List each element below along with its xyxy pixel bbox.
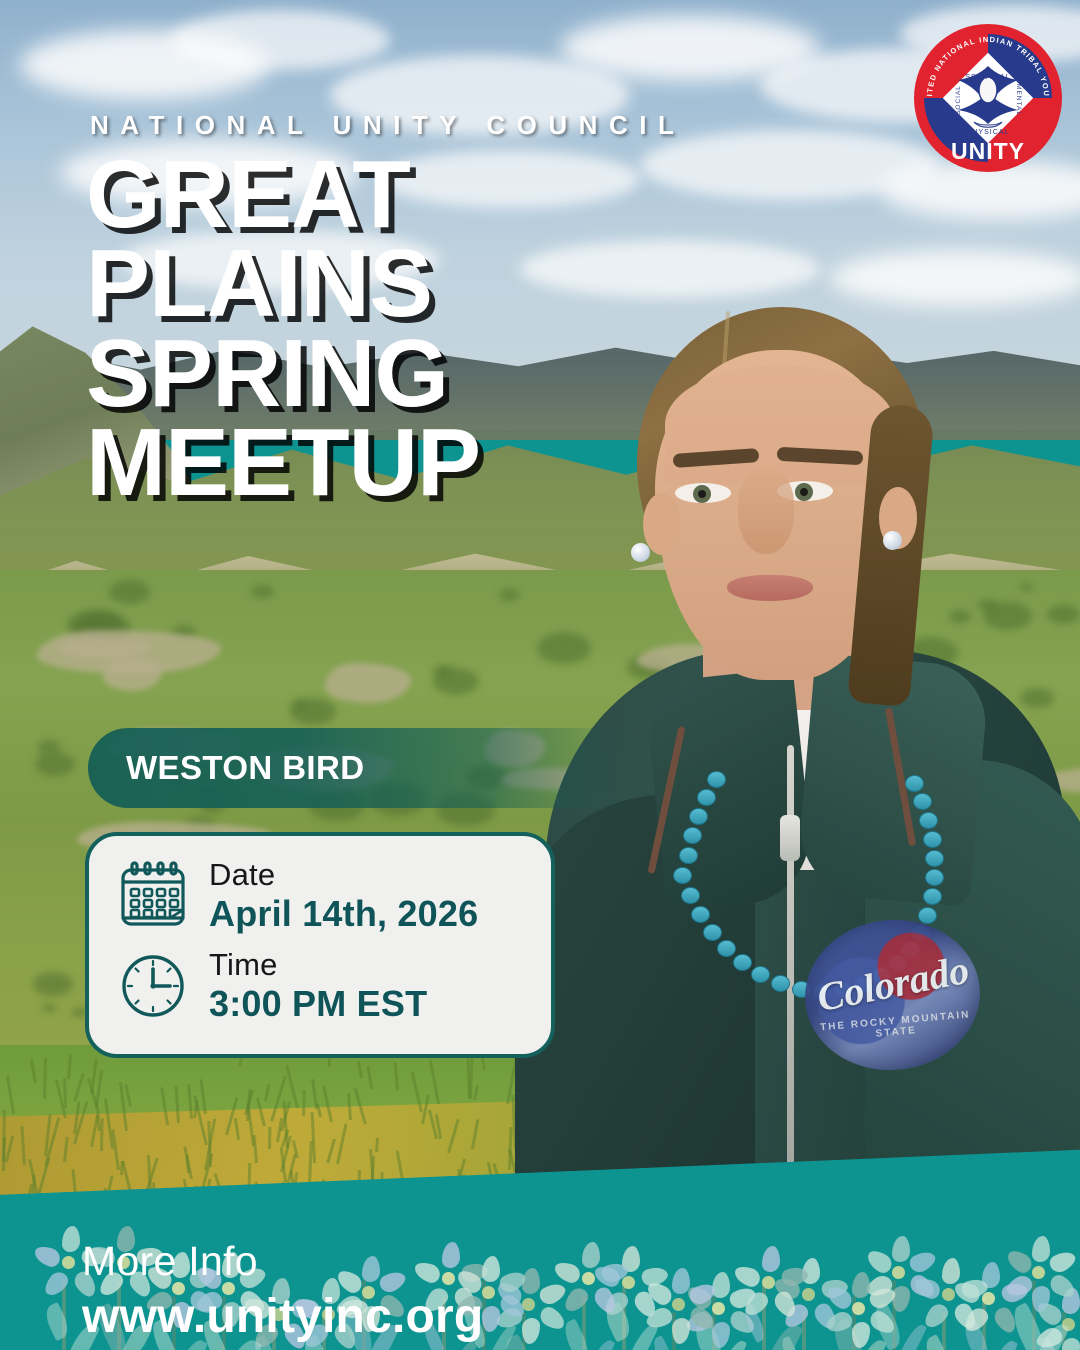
flower-petal (522, 1318, 540, 1344)
flower-petal (582, 1242, 600, 1268)
flower (560, 1250, 616, 1306)
flower-center (582, 1272, 595, 1285)
turquoise-bead (703, 924, 722, 941)
flower-petal (482, 1256, 500, 1282)
flower-petal (712, 1272, 730, 1298)
website-url[interactable]: www.unityinc.org (82, 1289, 483, 1344)
flower-petal (552, 1260, 582, 1285)
turquoise-bead (733, 954, 752, 971)
eyebrow-text: NATIONAL UNITY COUNCIL (90, 110, 685, 141)
page-title: GREAT PLAINS SPRING MEETUP (86, 150, 706, 507)
flower-petal (712, 1322, 730, 1348)
turquoise-bead (919, 812, 938, 829)
speaker-name: WESTON BIRD (126, 749, 364, 787)
logo-wordmark: UNITY (951, 138, 1025, 164)
flower (740, 1254, 796, 1310)
flower-leaf (921, 1334, 952, 1350)
headline-line-1: GREAT (86, 150, 706, 239)
flower-petal (762, 1246, 780, 1272)
turquoise-bead (913, 793, 932, 810)
footer-text: More Info www.unityinc.org (82, 1238, 483, 1344)
flower-center (482, 1286, 495, 1299)
detail-label-date: Date (209, 859, 478, 892)
logo-quadrant-top: SPIRITUAL (965, 74, 1010, 81)
turquoise-bead (923, 831, 942, 848)
flower-center (622, 1276, 635, 1289)
turquoise-bead (691, 906, 710, 923)
flower-petal (942, 1258, 960, 1284)
flower-petal (1047, 1247, 1079, 1276)
zipper-pull (780, 815, 800, 861)
detail-value-date: April 14th, 2026 (209, 895, 478, 933)
logo-quadrant-bottom: PHYSICAL (967, 129, 1010, 136)
turquoise-bead (925, 869, 944, 886)
shrub (35, 752, 75, 775)
flower-center (712, 1302, 725, 1315)
flower-petal (537, 1304, 569, 1333)
grass-blade (268, 1127, 271, 1149)
flower-center (672, 1298, 685, 1311)
headline-line-2: PLAINS (86, 239, 706, 328)
flower (1010, 1244, 1066, 1300)
more-info-label: More Info (82, 1238, 483, 1285)
shrub (251, 585, 273, 598)
flower (920, 1266, 976, 1322)
flower-petal (852, 1322, 870, 1348)
flower-petal (852, 1272, 870, 1298)
event-poster: Colorado THE ROCKY MOUNTAIN STATE UNITED… (0, 0, 1080, 1350)
right-iris (795, 483, 813, 501)
detail-text-date: Date April 14th, 2026 (209, 859, 478, 933)
flower-leaf (984, 1338, 1018, 1350)
detail-text-time: Time 3:00 PM EST (209, 949, 427, 1023)
nose (738, 470, 794, 554)
turquoise-bead (925, 850, 944, 867)
flower-leaf (763, 1321, 803, 1350)
logo-quadrant-left: SOCIAL (955, 85, 962, 115)
flower-leaf (586, 1337, 616, 1350)
turquoise-bead (689, 808, 708, 825)
turquoise-bead (707, 771, 726, 788)
turquoise-bead (697, 789, 716, 806)
right-earring-icon (883, 531, 902, 550)
turquoise-bead (717, 940, 736, 957)
flower-center (62, 1256, 75, 1269)
turquoise-bead (923, 888, 942, 905)
clock-icon (115, 948, 191, 1024)
flower-center (762, 1276, 775, 1289)
speaker-name-banner: WESTON BIRD (88, 728, 623, 808)
flower-petal (41, 1268, 71, 1300)
flower-leaf (41, 1302, 73, 1341)
turquoise-bead (683, 827, 702, 844)
flower-center (802, 1288, 815, 1301)
flower-petal (892, 1236, 910, 1262)
unity-logo-badge[interactable]: UNITED NATIONAL INDIAN TRIBAL YOUTH SPIR… (912, 22, 1064, 174)
headline-line-3: SPRING (86, 329, 706, 418)
shrub (109, 580, 150, 604)
flower-petal (1032, 1236, 1050, 1262)
detail-row-time: Time 3:00 PM EST (115, 948, 551, 1024)
flower-petal (482, 1306, 500, 1332)
turquoise-bead (679, 847, 698, 864)
flower-petal (672, 1318, 690, 1344)
grass-blade (100, 1118, 104, 1151)
cloud (170, 10, 390, 70)
shrub (433, 668, 479, 695)
detail-value-time: 3:00 PM EST (209, 985, 427, 1023)
flower-petal (1062, 1338, 1080, 1350)
flower-petal (864, 1247, 896, 1276)
logo-quadrant-right: MENTAL (1015, 84, 1022, 116)
flower-petal (672, 1268, 690, 1294)
left-earring-icon (631, 543, 650, 562)
flower (650, 1276, 706, 1332)
turquoise-bead (751, 966, 770, 983)
flower-petal (561, 1284, 591, 1316)
flower-center (892, 1266, 905, 1279)
flower-petal (892, 1286, 910, 1312)
detail-label-time: Time (209, 949, 427, 982)
event-details-card: Date April 14th, 2026 (85, 832, 555, 1058)
shrub (41, 1004, 56, 1013)
grass-blade (63, 1078, 67, 1108)
turquoise-bead (905, 775, 924, 792)
flower-center (942, 1288, 955, 1301)
mouth (727, 575, 813, 601)
shrub (33, 972, 73, 995)
turquoise-bead (918, 907, 937, 924)
turquoise-bead (681, 887, 700, 904)
detail-row-date: Date April 14th, 2026 (115, 858, 551, 934)
headline-line-4: MEETUP (86, 418, 706, 507)
flower-center (982, 1292, 995, 1305)
turquoise-bead (673, 867, 692, 884)
flower-leaf (560, 1318, 594, 1350)
flower-center (1032, 1266, 1045, 1279)
flower-center (852, 1302, 865, 1315)
flower (830, 1280, 886, 1336)
calendar-icon (115, 858, 191, 934)
flower-petal (62, 1226, 80, 1252)
flower-petal (32, 1244, 62, 1269)
